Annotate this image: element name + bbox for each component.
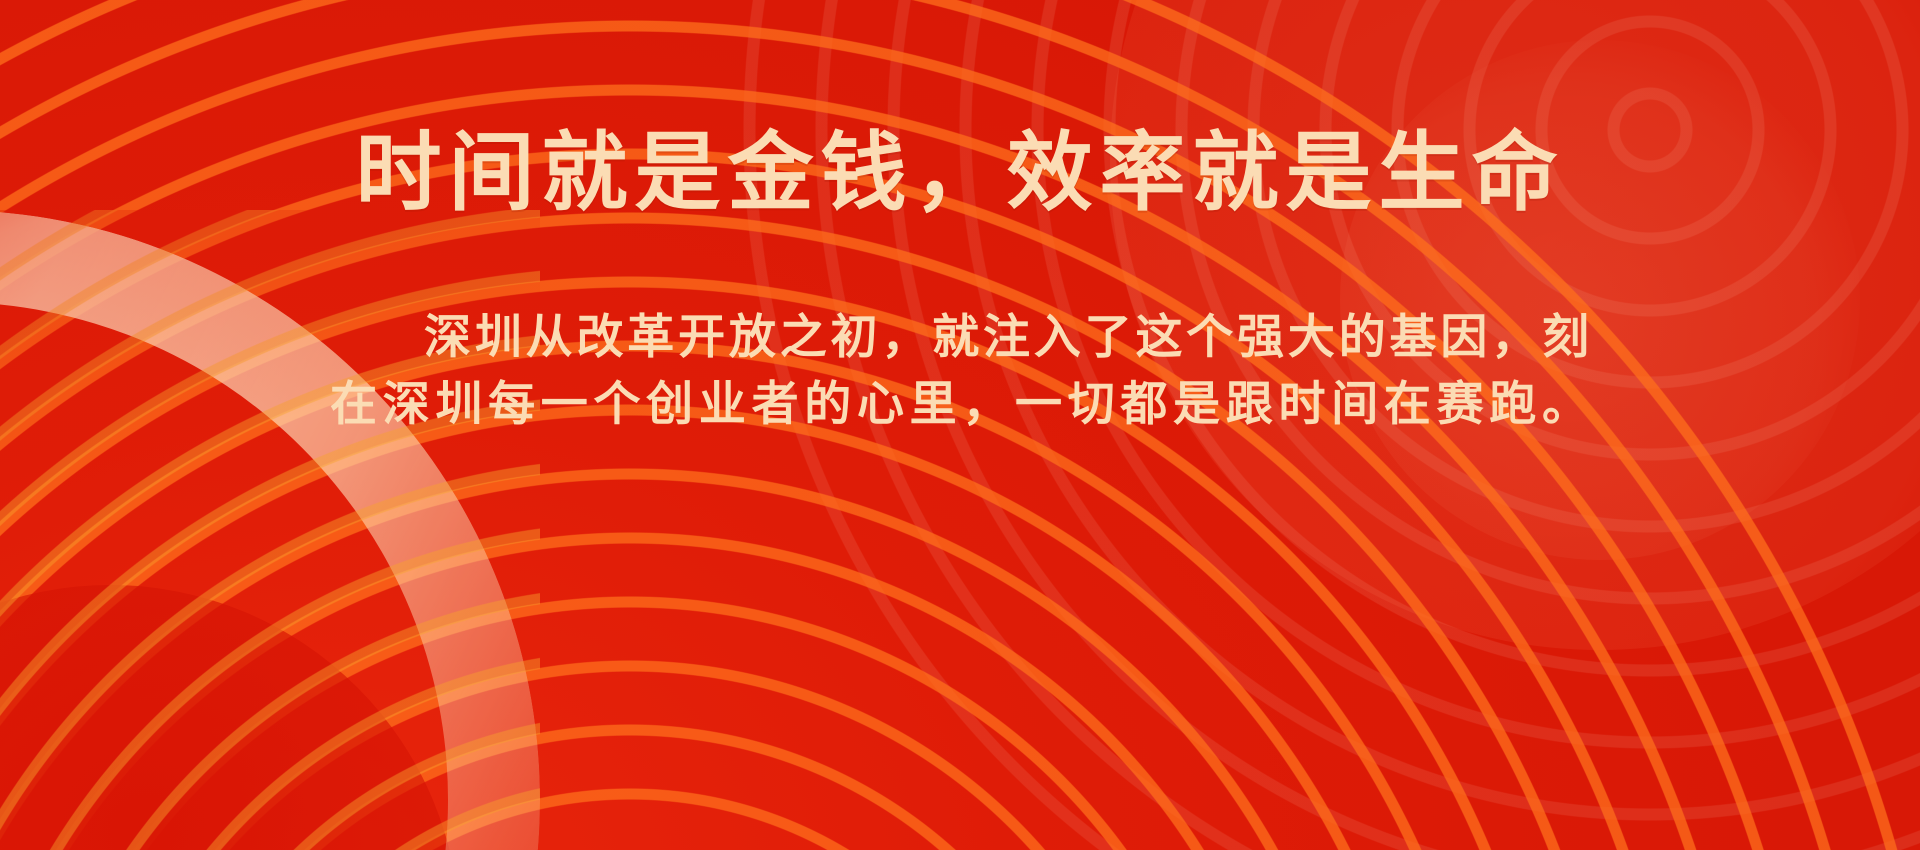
subtitle-line-1: 深圳从改革开放之初，就注入了这个强大的基因，刻 — [330, 304, 1590, 371]
subtitle-line-2: 在深圳每一个创业者的心里，一切都是跟时间在赛跑。 — [330, 371, 1590, 438]
subtitle-block: 深圳从改革开放之初，就注入了这个强大的基因，刻 在深圳每一个创业者的心里，一切都… — [330, 304, 1590, 437]
banner-content: 时间就是金钱，效率就是生命 深圳从改革开放之初，就注入了这个强大的基因，刻 在深… — [0, 0, 1920, 850]
promo-banner: 时间就是金钱，效率就是生命 深圳从改革开放之初，就注入了这个强大的基因，刻 在深… — [0, 0, 1920, 850]
headline-text: 时间就是金钱，效率就是生命 — [356, 128, 1565, 218]
